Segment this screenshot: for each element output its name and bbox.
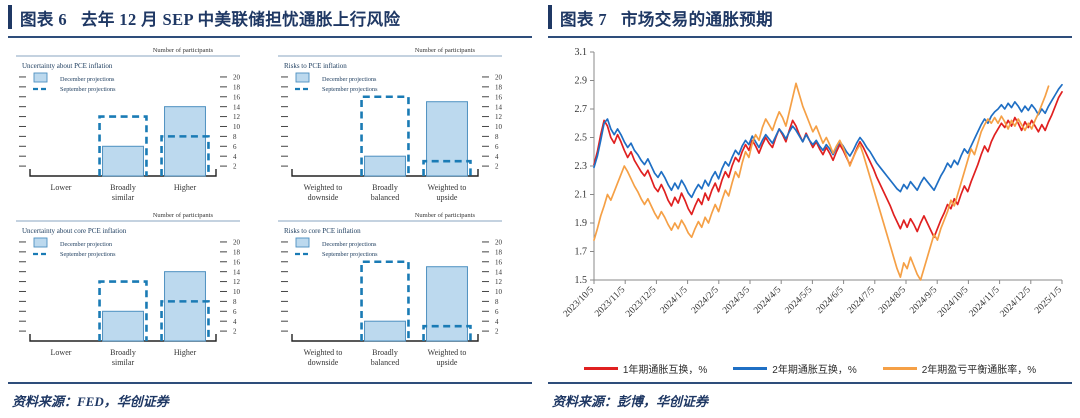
left-figure-header: 图表 6 去年 12 月 SEP 中美联储担忧通胀上行风险 xyxy=(8,0,532,36)
y-tick-label: 2 xyxy=(233,163,237,171)
category-label: Weighted to xyxy=(428,348,467,357)
y-tick-label: 1.5 xyxy=(575,275,588,286)
right-figure-title: 市场交易的通胀预期 xyxy=(607,6,773,30)
participants-note: Number of participants xyxy=(153,212,214,219)
x-tick-label: 2025/1/5 xyxy=(1033,285,1064,316)
x-tick-label: 2024/7/5 xyxy=(846,285,877,316)
legend-december-swatch xyxy=(296,238,309,247)
y-tick-label: 2.5 xyxy=(575,133,588,144)
y-tick-label: 18 xyxy=(233,248,241,256)
legend-december-label: December projections xyxy=(322,241,377,248)
category-label: Lower xyxy=(51,183,72,192)
y-tick-label: 2 xyxy=(495,163,499,171)
y-tick-label: 12 xyxy=(495,278,503,286)
legend-item: 1年期通胀互换，% xyxy=(584,361,707,376)
y-tick-label: 14 xyxy=(495,268,503,276)
sep-chart-svg: Number of participantsRisks to core PCE … xyxy=(270,207,532,372)
y-tick-label: 20 xyxy=(233,74,241,82)
legend-december-label: December projections xyxy=(322,76,377,83)
december-bar xyxy=(103,311,144,341)
legend-label: 2年期通胀互换，% xyxy=(772,361,856,376)
x-tick-label: 2024/9/5 xyxy=(908,285,939,316)
y-tick-label: 8 xyxy=(495,133,499,141)
y-tick-label: 4 xyxy=(233,153,237,161)
y-tick-label: 2.9 xyxy=(575,76,588,87)
category-label: Higher xyxy=(174,348,197,357)
legend-december-swatch xyxy=(296,73,309,82)
x-tick-label: 2024/5/5 xyxy=(784,285,815,316)
x-tick-label: 2023/12/5 xyxy=(624,285,658,319)
category-label: upside xyxy=(437,193,458,202)
legend-label: 1年期通胀互换，% xyxy=(623,361,707,376)
y-tick-label: 2.3 xyxy=(575,161,588,172)
right-figure-footer: 资料来源：彭博，华创证券 xyxy=(540,382,1080,418)
y-tick-label: 1.7 xyxy=(575,247,588,258)
x-tick-label: 2024/10/5 xyxy=(936,285,970,319)
y-tick-label: 16 xyxy=(233,258,241,266)
y-tick-label: 12 xyxy=(233,278,241,286)
category-label: Weighted to xyxy=(304,183,343,192)
december-bar xyxy=(365,321,406,341)
y-tick-label: 4 xyxy=(495,153,499,161)
legend-item: 2年期通胀互换，% xyxy=(733,361,856,376)
x-tick-label: 2024/12/5 xyxy=(999,285,1033,319)
legend-september-label: September projections xyxy=(322,251,378,258)
y-tick-label: 3.1 xyxy=(575,47,588,58)
legend-swatch xyxy=(584,367,618,370)
category-label: similar xyxy=(112,193,135,202)
left-figure-footer: 资料来源：FED，华创证券 xyxy=(0,382,540,418)
legend-december-swatch xyxy=(34,73,47,82)
category-label: balanced xyxy=(371,358,399,367)
sep-chart-risks-pce: Number of participantsRisks to PCE infla… xyxy=(270,42,532,207)
december-bar xyxy=(427,267,468,341)
y-tick-label: 6 xyxy=(495,308,499,316)
december-bar xyxy=(165,272,206,341)
y-tick-label: 16 xyxy=(495,93,503,101)
december-bar xyxy=(365,156,406,176)
x-tick-label: 2024/11/5 xyxy=(968,285,1002,319)
y-tick-label: 16 xyxy=(495,258,503,266)
participants-note: Number of participants xyxy=(415,47,476,54)
figure-page: 图表 6 去年 12 月 SEP 中美联储担忧通胀上行风险 Number of … xyxy=(0,0,1080,418)
y-tick-label: 12 xyxy=(495,113,503,121)
legend-december-label: December projection xyxy=(60,241,112,248)
right-figure-label: 图表 7 xyxy=(560,6,607,30)
left-figure-title: 去年 12 月 SEP 中美联储担忧通胀上行风险 xyxy=(67,6,400,30)
right-figure-panel: 图表 7 市场交易的通胀预期 1.51.71.92.12.32.52.72.93… xyxy=(540,0,1080,418)
x-tick-label: 2024/8/5 xyxy=(877,285,908,316)
y-tick-label: 14 xyxy=(233,103,241,111)
category-label: Higher xyxy=(174,183,197,192)
line-chart-area: 1.51.71.92.12.32.52.72.93.12023/10/52023… xyxy=(548,40,1072,380)
legend-september-label: September projections xyxy=(60,86,116,93)
inflation-expectation-chart: 1.51.71.92.12.32.52.72.93.12023/10/52023… xyxy=(548,40,1072,340)
x-tick-label: 2024/2/5 xyxy=(690,285,721,316)
category-label: balanced xyxy=(371,193,399,202)
y-tick-label: 12 xyxy=(233,113,241,121)
y-tick-label: 2 xyxy=(233,328,237,336)
sep-subtitle: Risks to PCE inflation xyxy=(284,62,347,70)
left-header-rule xyxy=(8,36,532,38)
x-tick-label: 2024/6/5 xyxy=(815,285,846,316)
sep-chart-uncertainty-pce: Number of participantsUncertainty about … xyxy=(8,42,270,207)
y-tick-label: 6 xyxy=(233,143,237,151)
sep-subtitle: Uncertainty about PCE inflation xyxy=(22,62,113,70)
y-tick-label: 10 xyxy=(495,123,503,131)
legend-swatch xyxy=(733,367,767,370)
sep-chart-svg: Number of participantsUncertainty about … xyxy=(8,207,270,372)
y-tick-label: 20 xyxy=(495,239,503,247)
y-tick-label: 8 xyxy=(233,298,237,306)
x-tick-label: 2024/4/5 xyxy=(752,285,783,316)
legend-september-label: September projections xyxy=(322,86,378,93)
category-label: Broadly xyxy=(372,348,398,357)
category-label: Broadly xyxy=(372,183,398,192)
y-tick-label: 1.9 xyxy=(575,218,588,229)
december-bar xyxy=(427,102,468,176)
category-label: Broadly xyxy=(110,348,136,357)
right-source-text: 资料来源：彭博，华创证券 xyxy=(548,384,1072,418)
sep-chart-grid: Number of participantsUncertainty about … xyxy=(8,42,532,372)
legend-september-label: September projections xyxy=(60,251,116,258)
y-tick-label: 4 xyxy=(233,318,237,326)
right-figure-header: 图表 7 市场交易的通胀预期 xyxy=(548,0,1072,36)
participants-note: Number of participants xyxy=(153,47,214,54)
line-chart-svg: 1.51.71.92.12.32.52.72.93.12023/10/52023… xyxy=(548,40,1072,340)
y-tick-label: 20 xyxy=(495,74,503,82)
x-tick-label: 2024/1/5 xyxy=(659,285,690,316)
legend-label: 2年期盈亏平衡通胀率，% xyxy=(922,361,1036,376)
category-label: upside xyxy=(437,358,458,367)
left-figure-panel: 图表 6 去年 12 月 SEP 中美联储担忧通胀上行风险 Number of … xyxy=(0,0,540,418)
y-tick-label: 6 xyxy=(233,308,237,316)
participants-note: Number of participants xyxy=(415,212,476,219)
series-line xyxy=(594,83,1049,280)
sep-charts-area: Number of participantsUncertainty about … xyxy=(8,42,532,378)
sep-chart-svg: Number of participantsUncertainty about … xyxy=(8,42,270,207)
category-label: Broadly xyxy=(110,183,136,192)
sep-subtitle: Risks to core PCE inflation xyxy=(284,227,361,235)
x-tick-label: 2023/11/5 xyxy=(593,285,627,319)
right-header-rule xyxy=(548,36,1072,38)
y-tick-label: 18 xyxy=(233,83,241,91)
line-chart-legend: 1年期通胀互换，%2年期通胀互换，%2年期盈亏平衡通胀率，% xyxy=(548,361,1072,376)
y-tick-label: 16 xyxy=(233,93,241,101)
y-tick-label: 14 xyxy=(495,103,503,111)
legend-december-label: December projections xyxy=(60,76,115,83)
sep-chart-svg: Number of participantsRisks to PCE infla… xyxy=(270,42,532,207)
sep-chart-uncertainty-core-pce: Number of participantsUncertainty about … xyxy=(8,207,270,372)
accent-bar xyxy=(548,5,552,29)
category-label: downside xyxy=(308,193,339,202)
y-tick-label: 18 xyxy=(495,83,503,91)
legend-december-swatch xyxy=(34,238,47,247)
y-tick-label: 20 xyxy=(233,239,241,247)
category-label: Weighted to xyxy=(428,183,467,192)
category-label: similar xyxy=(112,358,135,367)
y-tick-label: 10 xyxy=(233,123,241,131)
category-label: Lower xyxy=(51,348,72,357)
y-tick-label: 2 xyxy=(495,328,499,336)
y-tick-label: 8 xyxy=(233,133,237,141)
december-bar xyxy=(165,107,206,176)
sep-subtitle: Uncertainty about core PCE inflation xyxy=(22,227,127,235)
x-tick-label: 2023/10/5 xyxy=(562,285,596,319)
accent-bar xyxy=(8,5,12,29)
legend-item: 2年期盈亏平衡通胀率，% xyxy=(883,361,1036,376)
y-tick-label: 6 xyxy=(495,143,499,151)
x-tick-label: 2024/3/5 xyxy=(721,285,752,316)
y-tick-label: 10 xyxy=(495,288,503,296)
december-bar xyxy=(103,146,144,176)
legend-swatch xyxy=(883,367,917,370)
category-label: Weighted to xyxy=(304,348,343,357)
y-tick-label: 4 xyxy=(495,318,499,326)
left-figure-label: 图表 6 xyxy=(20,6,67,30)
left-source-text: 资料来源：FED，华创证券 xyxy=(8,384,532,418)
sep-chart-risks-core-pce: Number of participantsRisks to core PCE … xyxy=(270,207,532,372)
y-tick-label: 2.1 xyxy=(575,190,588,201)
y-tick-label: 18 xyxy=(495,248,503,256)
y-tick-label: 2.7 xyxy=(575,104,588,115)
y-tick-label: 14 xyxy=(233,268,241,276)
y-tick-label: 10 xyxy=(233,288,241,296)
y-tick-label: 8 xyxy=(495,298,499,306)
category-label: downside xyxy=(308,358,339,367)
